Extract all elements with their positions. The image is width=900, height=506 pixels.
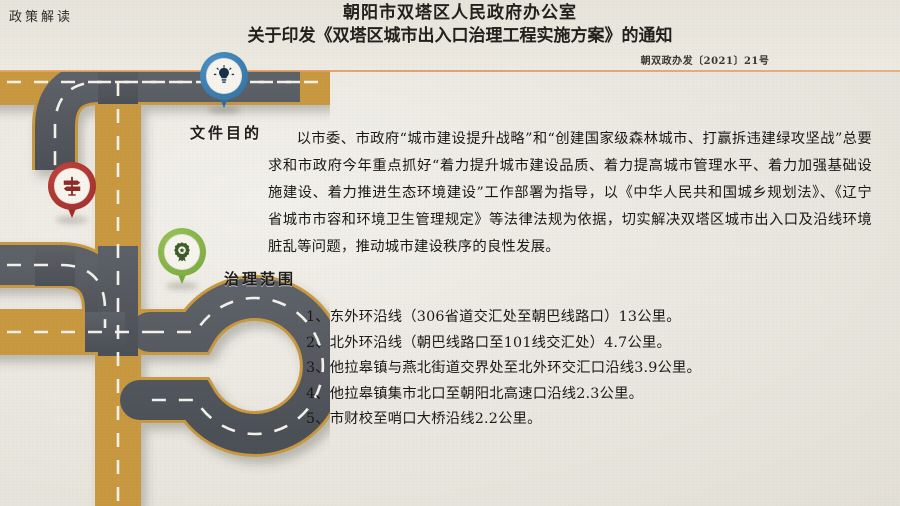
list-item: 5、市财校至哨口大桥沿线2.2公里。 <box>306 407 866 433</box>
page-title: 朝阳市双塔区人民政府办公室 关于印发《双塔区城市出入口治理工程实施方案》的通知 <box>150 2 770 48</box>
signpost-icon <box>61 175 83 197</box>
slide-canvas: 政策解读 朝阳市双塔区人民政府办公室 关于印发《双塔区城市出入口治理工程实施方案… <box>0 0 900 506</box>
pin-disc <box>206 58 242 94</box>
award-ribbon-icon <box>171 241 193 263</box>
title-line-2: 关于印发《双塔区城市出入口治理工程实施方案》的通知 <box>150 24 770 48</box>
map-pin-signpost[interactable] <box>48 162 96 224</box>
list-item: 4、他拉皋镇集市北口至朝阳北高速口沿线2.3公里。 <box>306 382 866 408</box>
pin-disc <box>54 168 90 204</box>
header-divider <box>0 70 900 72</box>
scope-list: 1、东外环沿线（306省道交汇处至朝巴线路口）13公里。 2、北外环沿线（朝巴线… <box>306 305 866 433</box>
document-number: 朝双政办发〔2021〕21号 <box>560 52 850 67</box>
list-item: 1、东外环沿线（306省道交汇处至朝巴线路口）13公里。 <box>306 305 866 331</box>
map-pin-idea[interactable] <box>200 52 248 114</box>
breadcrumb[interactable]: 政策解读 <box>9 6 73 25</box>
title-line-1: 朝阳市双塔区人民政府办公室 <box>150 2 770 24</box>
section-label-scope: 治理范围 <box>224 268 296 289</box>
list-item: 3、他拉皋镇与燕北街道交界处至北外环交汇口沿线3.9公里。 <box>306 356 866 382</box>
map-pin-award[interactable] <box>158 228 206 290</box>
section-label-purpose: 文件目的 <box>190 122 262 143</box>
pin-disc <box>164 234 200 270</box>
lightbulb-icon <box>213 65 235 87</box>
purpose-body-text: 以市委、市政府“城市建设提升战略”和“创建国家级森林城市、打赢拆违建绿攻坚战”总… <box>268 126 872 261</box>
list-item: 2、北外环沿线（朝巴线路口至101线交汇处）4.7公里。 <box>306 331 866 357</box>
